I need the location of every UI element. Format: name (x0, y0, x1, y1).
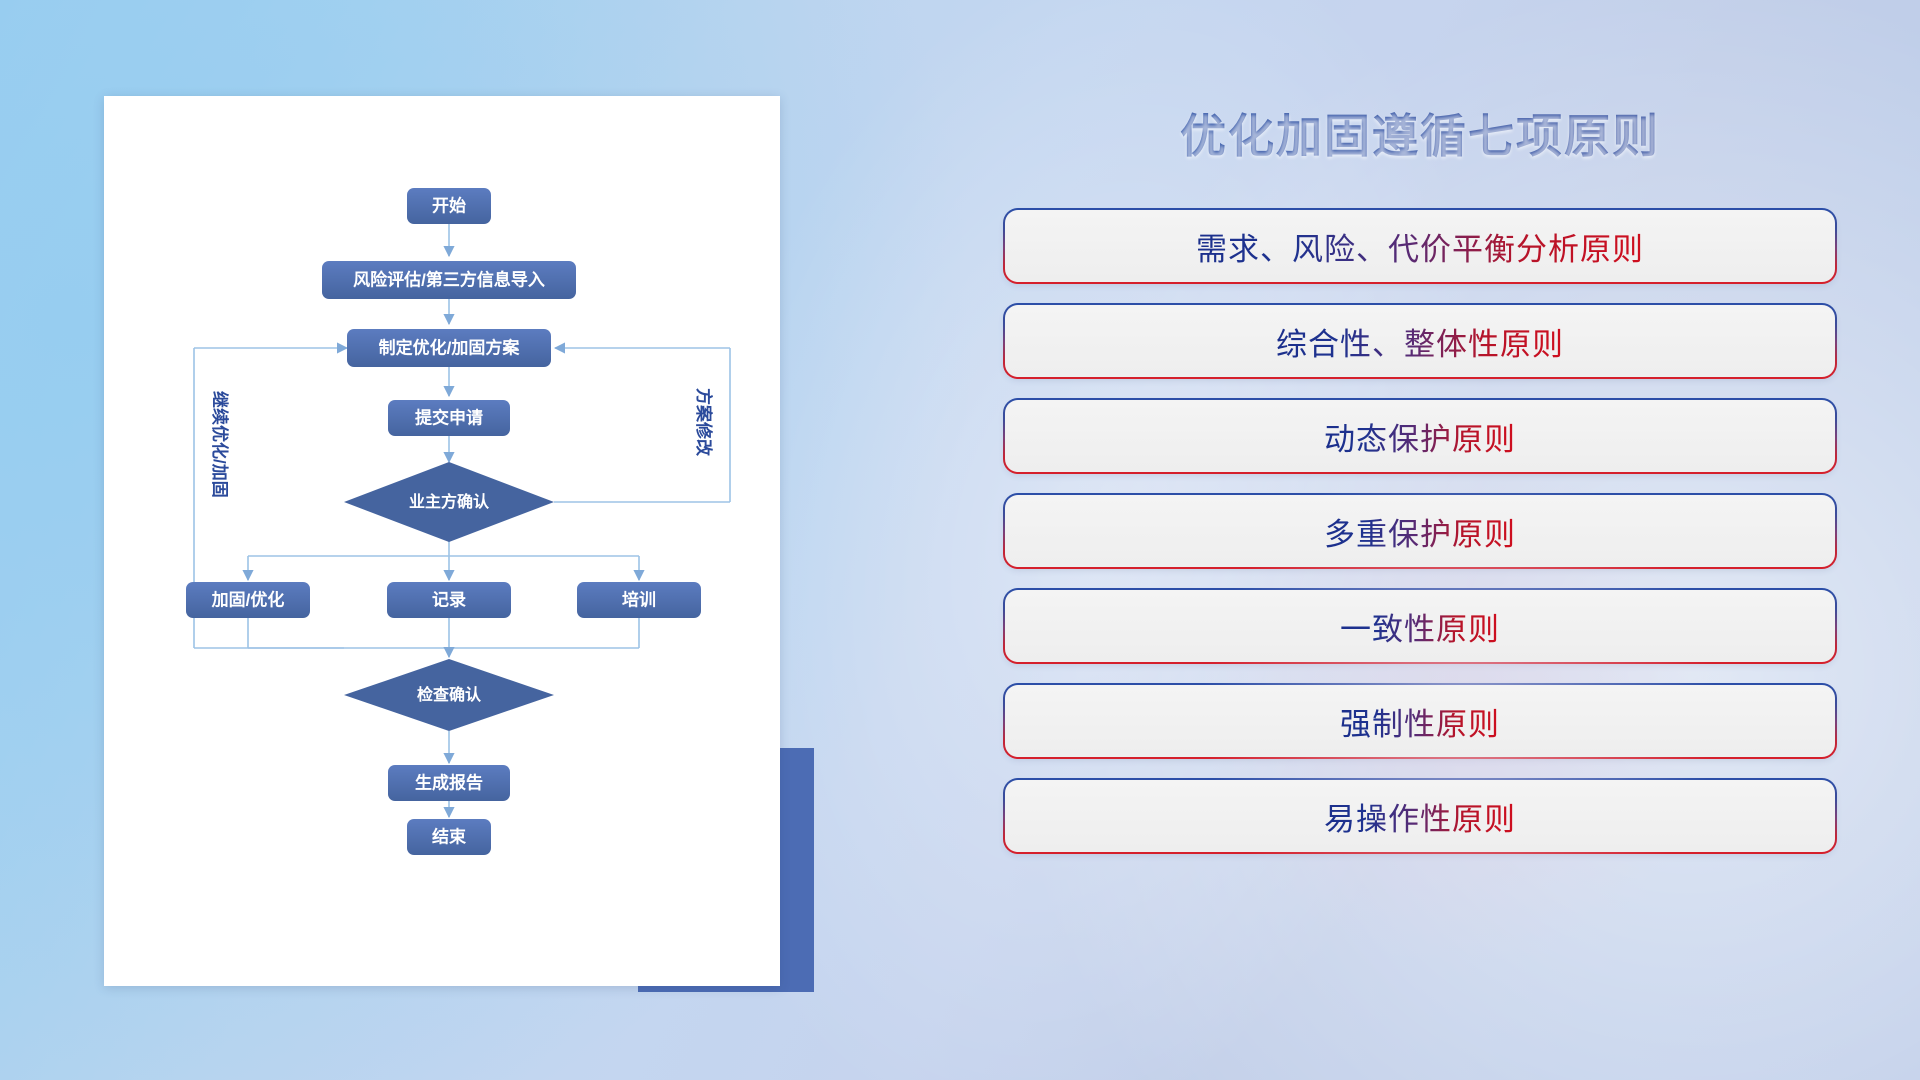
flow-node-record[interactable]: 记录 (387, 582, 511, 618)
flow-node-label: 提交申请 (415, 407, 483, 427)
edge-label-plan-revision: 方案修改 (694, 388, 714, 457)
principle-label: 综合性、整体性原则 (1276, 319, 1564, 364)
panel-title: 优化加固遵循七项原则 (1005, 100, 1835, 166)
flow-node-label: 制定优化/加固方案 (379, 337, 521, 357)
principle-label: 多重保护原则 (1324, 509, 1516, 554)
flow-node-label: 记录 (432, 590, 466, 609)
flow-node-reinforce-optimize[interactable]: 加固/优化 (186, 582, 310, 618)
flow-node-label: 检查确认 (417, 685, 482, 704)
principle-card[interactable]: 综合性、整体性原则 (1005, 305, 1835, 377)
flow-node-end[interactable]: 结束 (407, 819, 491, 855)
flow-node-make-plan[interactable]: 制定优化/加固方案 (347, 329, 551, 367)
edge-label-continue-optimize: 继续优化/加固 (210, 391, 230, 498)
principle-card[interactable]: 多重保护原则 (1005, 495, 1835, 567)
flow-node-training[interactable]: 培训 (577, 582, 701, 618)
flow-node-label: 开始 (432, 195, 466, 215)
flow-node-risk-assessment[interactable]: 风险评估/第三方信息导入 (322, 261, 576, 299)
flow-node-check-confirm[interactable]: 检查确认 (344, 659, 554, 731)
flow-node-label: 结束 (432, 826, 466, 846)
flow-node-label: 风险评估/第三方信息导入 (353, 269, 545, 289)
principle-label: 易操作性原则 (1324, 794, 1516, 839)
principle-card[interactable]: 一致性原则 (1005, 590, 1835, 662)
principle-label: 动态保护原则 (1324, 414, 1516, 459)
slide-canvas: 开始 风险评估/第三方信息导入 制定优化/加固方案 提交申请 (0, 0, 1920, 1080)
principle-card[interactable]: 易操作性原则 (1005, 780, 1835, 852)
flow-node-start[interactable]: 开始 (407, 188, 491, 224)
flow-node-generate-report[interactable]: 生成报告 (388, 765, 510, 801)
flow-node-submit-application[interactable]: 提交申请 (388, 400, 510, 436)
principles-panel: 优化加固遵循七项原则 需求、风险、代价平衡分析原则 综合性、整体性原则 动态保护… (1005, 86, 1835, 1006)
principle-label: 一致性原则 (1340, 604, 1500, 649)
principle-label: 强制性原则 (1340, 699, 1500, 744)
flow-node-label: 业主方确认 (409, 492, 490, 511)
flow-node-label: 生成报告 (415, 772, 483, 792)
principle-card[interactable]: 动态保护原则 (1005, 400, 1835, 472)
flow-node-label: 加固/优化 (211, 589, 285, 609)
principle-card[interactable]: 强制性原则 (1005, 685, 1835, 757)
principle-card[interactable]: 需求、风险、代价平衡分析原则 (1005, 210, 1835, 282)
principle-label: 需求、风险、代价平衡分析原则 (1196, 224, 1644, 269)
flowchart-card: 开始 风险评估/第三方信息导入 制定优化/加固方案 提交申请 (104, 96, 780, 986)
flow-node-owner-confirm[interactable]: 业主方确认 (344, 462, 554, 542)
flowchart-diagram: 开始 风险评估/第三方信息导入 制定优化/加固方案 提交申请 (104, 96, 780, 986)
flow-node-label: 培训 (622, 589, 656, 609)
principle-list: 需求、风险、代价平衡分析原则 综合性、整体性原则 动态保护原则 多重保护原则 一… (1005, 210, 1835, 852)
